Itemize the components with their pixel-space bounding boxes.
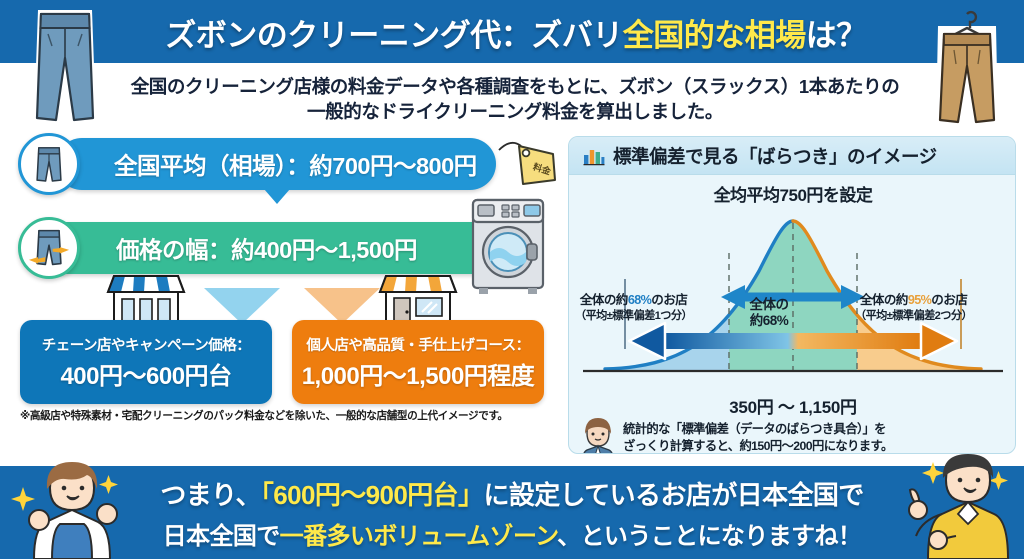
price-tag-icon: 料金 xyxy=(497,140,559,192)
bottom-line-1-post: に設定しているお店が日本全国で xyxy=(483,480,863,510)
bar-chart-icon xyxy=(583,146,605,166)
jeans-glyph-icon xyxy=(32,144,66,184)
blue-shop-icon xyxy=(98,272,194,324)
funnel-arrow-orange-icon xyxy=(304,288,380,324)
page-title: ズボンのクリーニング代：ズバリ全国的な相場は？ xyxy=(96,8,936,56)
bottom-banner-text: つまり、「600円～900円台」に設定しているお店が日本全国で 日本全国で一番多… xyxy=(150,470,874,556)
price-range-label: 価格の幅：約400円～1,500円 xyxy=(56,231,417,265)
bottom-line-2: 日本全国で一番多いボリュームゾーン、ということになりますね！ xyxy=(163,516,862,551)
annotation-center-68: 全体の 約68% xyxy=(717,297,821,328)
chart-body: 全均平均750円を設定 xyxy=(569,175,1016,454)
annotation-center-line-1: 全体の xyxy=(717,297,821,313)
title-highlight: 全国的な相場 xyxy=(623,10,806,55)
annot-left-pre: 全体の約 xyxy=(580,293,628,307)
title-part-1: ズボンのクリーニング代：ズバリ xyxy=(165,10,623,55)
private-store-value: 1,000円～1,500円程度 xyxy=(302,356,535,391)
subheadline-line-1: 全国のクリーニング店様の料金データや各種調査をもとに、ズボン（スラックス）1本あ… xyxy=(131,75,900,98)
annot-left-pct: 68% xyxy=(628,293,651,307)
national-average-pill: 全国平均（相場）：約700円～800円 xyxy=(56,138,496,190)
national-average-label: 全国平均（相場）：約700円～800円 xyxy=(56,147,477,181)
footnote: ※高級店や特殊素材・宅配クリーニングのパック料金などを除いた、一般的な店舗型の上… xyxy=(20,408,560,423)
annotation-left-line-1: 全体の約68%のお店 xyxy=(575,293,692,309)
annot-right-pct: 95% xyxy=(908,293,931,307)
funnel-arrow-blue-icon xyxy=(204,288,280,324)
blue-jeans-icon xyxy=(26,4,104,130)
beige-slacks-on-hanger-icon xyxy=(928,4,1006,130)
annotation-center-line-2: 約68% xyxy=(717,313,821,329)
title-part-2: は？ xyxy=(806,10,867,55)
annot-right-pre: 全体の約 xyxy=(860,293,908,307)
woman-apron-cheering-icon xyxy=(6,452,146,559)
chart-axis-label: 350円 ～ 1,150円 xyxy=(569,393,1016,418)
jeans-arrows-glyph-icon xyxy=(26,227,72,269)
private-store-label: 個人店や高品質・手仕上げコース： xyxy=(306,334,529,355)
chain-store-label: チェーン店やキャンペーン価格： xyxy=(42,334,251,355)
infographic-root: ズボンのクリーニング代：ズバリ全国的な相場は？ 全国のクリーニング店様の料金デー… xyxy=(0,0,1024,559)
annotation-left-line-2: （平均±標準偏差1つ分） xyxy=(575,309,692,323)
bottom-line-1: つまり、「600円～900円台」に設定しているお店が日本全国で xyxy=(160,475,863,512)
annotation-right-line-2: （平均±標準偏差2つ分） xyxy=(855,309,972,323)
annot-right-post: のお店 xyxy=(931,293,967,307)
subheadline: 全国のクリーニング店様の料金データや各種調査をもとに、ズボン（スラックス）1本あ… xyxy=(100,68,930,130)
man-yellow-sweater-pointing-icon xyxy=(884,440,1024,559)
bottom-line-1-highlight: 「600円～900円台」 xyxy=(261,480,484,510)
chart-panel-title: 標準偏差で見る「ばらつき」のイメージ xyxy=(613,143,937,169)
subheadline-line-2: 一般的なドライクリーニング料金を算出しました。 xyxy=(307,100,723,123)
jeans-spread-arrows-icon xyxy=(18,217,80,279)
bottom-line-2-pre: 日本全国で xyxy=(163,523,280,550)
chart-note-line-1: 統計的な「標準偏差（データのばらつき具合）」を xyxy=(623,421,893,438)
annotation-left-68: 全体の約68%のお店 （平均±標準偏差1つ分） xyxy=(575,293,692,323)
orange-shop-icon xyxy=(370,272,466,324)
chain-store-value: 400円～600円台 xyxy=(60,356,231,391)
annot-left-post: のお店 xyxy=(651,293,687,307)
jeans-circle-icon xyxy=(18,133,80,195)
chain-store-card: チェーン店やキャンペーン価格： 400円～600円台 xyxy=(20,320,272,404)
left-column: 全国平均（相場）：約700円～800円 価格の幅：約400円～1,500円 xyxy=(14,136,562,456)
private-store-card: 個人店や高品質・手仕上げコース： 1,000円～1,500円程度 xyxy=(292,320,544,404)
pill-connector-caret xyxy=(264,189,290,204)
bottom-line-1-pre: つまり、 xyxy=(160,480,261,510)
female-advisor-icon xyxy=(579,417,617,454)
chart-note-line-2: ざっくり計算すると、約150円～200円になります。 xyxy=(623,438,893,454)
chart-note-text: 統計的な「標準偏差（データのばらつき具合）」を ざっくり計算すると、約150円～… xyxy=(623,421,893,454)
bottom-line-2-highlight: 一番多いボリュームゾーン xyxy=(280,523,557,550)
bottom-line-2-post: 、ということになりますね！ xyxy=(557,523,861,550)
washing-machine-icon xyxy=(469,196,547,296)
std-dev-chart-panel: 標準偏差で見る「ばらつき」のイメージ 全均平均750円を設定 xyxy=(568,136,1016,454)
annotation-right-line-1: 全体の約95%のお店 xyxy=(855,293,972,309)
annotation-right-95: 全体の約95%のお店 （平均±標準偏差2つ分） xyxy=(855,293,972,323)
chart-panel-header: 標準偏差で見る「ばらつき」のイメージ xyxy=(569,137,1015,175)
price-range-pill: 価格の幅：約400円～1,500円 xyxy=(56,222,496,274)
